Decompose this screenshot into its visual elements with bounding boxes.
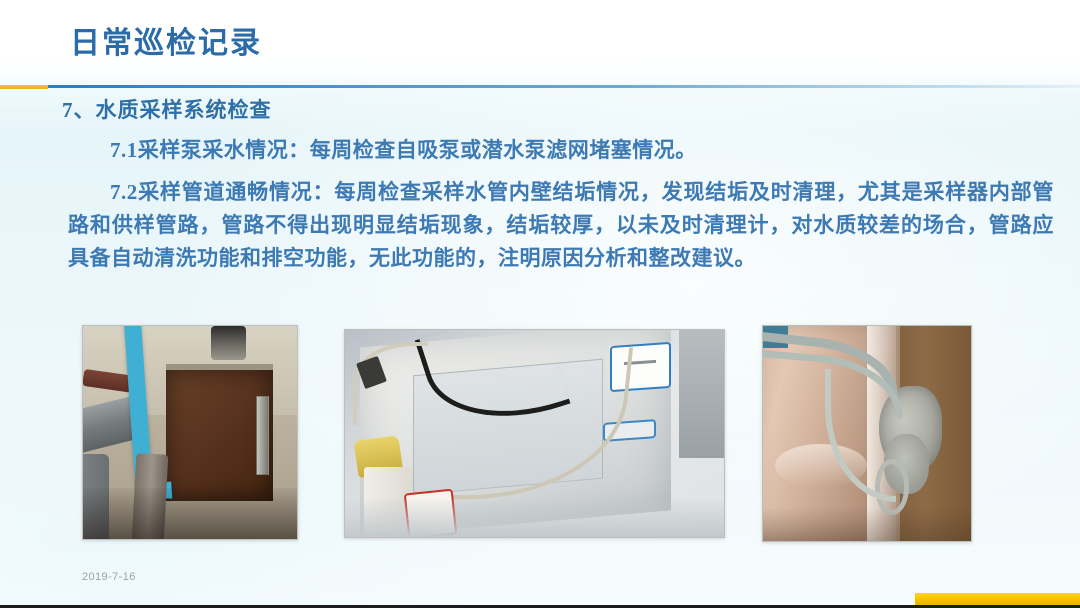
photo-sampling-pump <box>82 325 298 540</box>
divider-gold-accent <box>0 85 48 89</box>
photo-sampling-pump-content <box>83 326 297 539</box>
photo-sampling-cabinet <box>344 329 725 538</box>
photo-row <box>0 325 1080 541</box>
divider-blue-line <box>48 85 1080 88</box>
footer-gold-accent <box>915 593 1080 605</box>
section-heading: 7、水质采样系统检查 <box>62 94 1080 126</box>
photo-scaled-pipe-content <box>763 326 971 541</box>
paragraph-7-1: 7.1采样泵采水情况：每周检查自吸泵或潜水泵滤网堵塞情况。 <box>0 134 1080 167</box>
header-divider <box>0 85 1080 89</box>
photo-scaled-pipe <box>762 325 972 542</box>
slide: 日常巡检记录 7、水质采样系统检查 7.1采样泵采水情况：每周检查自吸泵或潜水泵… <box>0 0 1080 608</box>
photo-sampling-cabinet-content <box>345 330 724 537</box>
slide-content: 7、水质采样系统检查 7.1采样泵采水情况：每周检查自吸泵或潜水泵滤网堵塞情况。… <box>0 94 1080 275</box>
page-title: 日常巡检记录 <box>70 18 262 62</box>
paragraph-7-2: 7.2采样管道通畅情况：每周检查采样水管内壁结垢情况，发现结垢及时清理，尤其是采… <box>0 176 1080 275</box>
slide-date: 2019-7-16 <box>82 571 136 583</box>
